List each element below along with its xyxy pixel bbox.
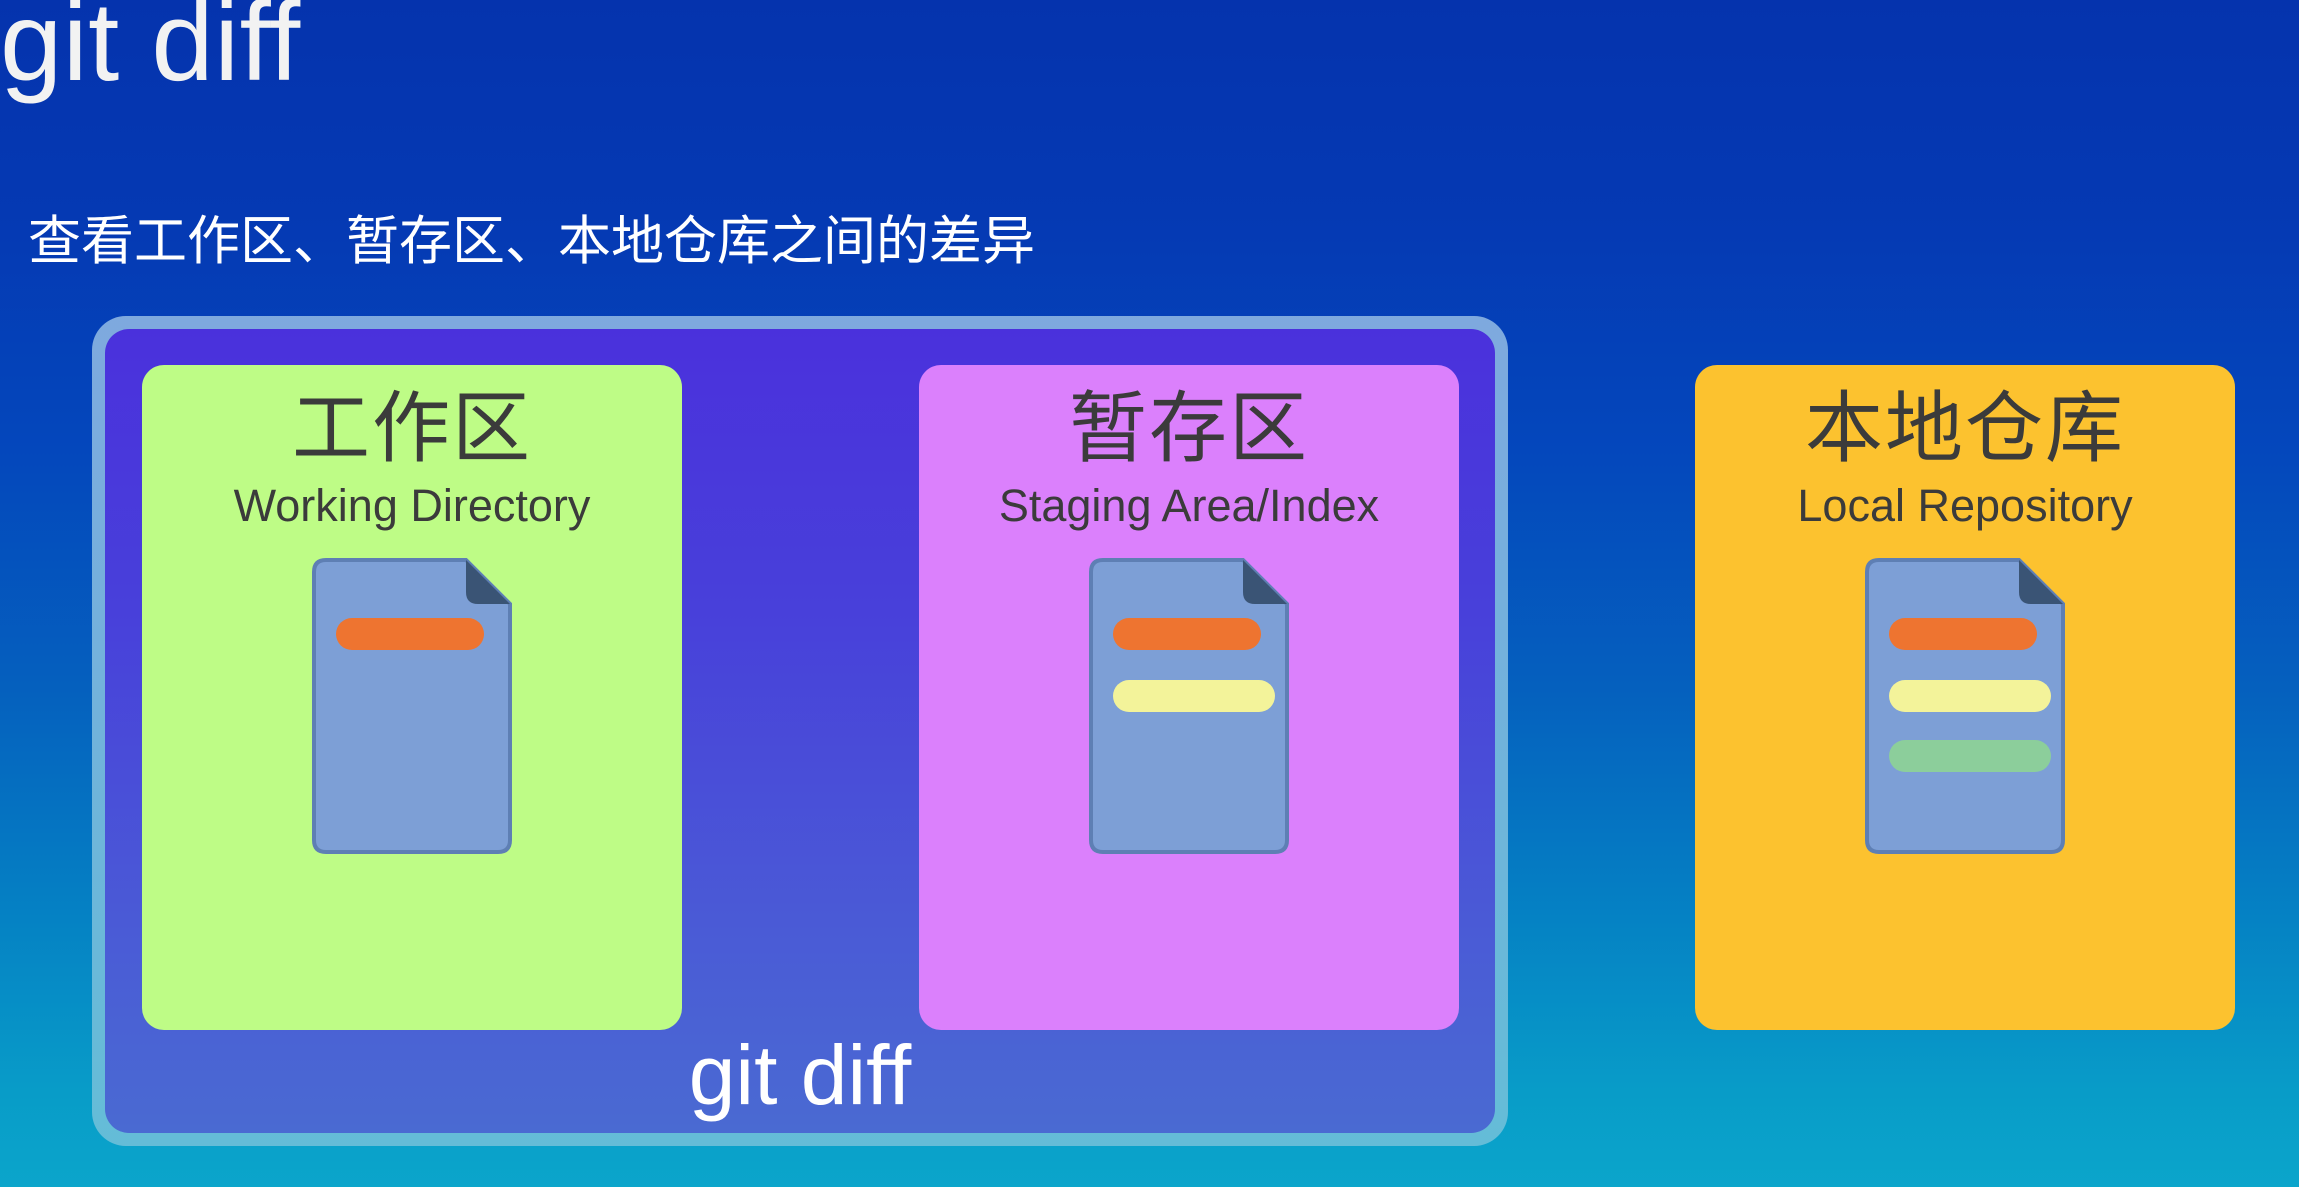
file-document-icon xyxy=(1077,556,1301,856)
page-title: git diff xyxy=(0,0,301,98)
page-subtitle: 查看工作区、暂存区、本地仓库之间的差异 xyxy=(28,215,1035,268)
card-title-cn: 本地仓库 xyxy=(1695,385,2235,472)
card-working-directory[interactable]: 工作区 Working Directory xyxy=(142,365,682,1030)
slide-canvas: git diff 查看工作区、暂存区、本地仓库之间的差异 git diff 工作… xyxy=(0,0,2299,1187)
document-icon-wrap xyxy=(142,556,682,856)
card-title-cn: 暂存区 xyxy=(919,385,1459,472)
card-title-cn: 工作区 xyxy=(142,385,682,472)
card-title-en: Local Repository xyxy=(1695,482,2235,529)
document-icon-wrap xyxy=(919,556,1459,856)
card-local-repository[interactable]: 本地仓库 Local Repository xyxy=(1695,365,2235,1030)
card-staging-area[interactable]: 暂存区 Staging Area/Index xyxy=(919,365,1459,1030)
document-icon-wrap xyxy=(1695,556,2235,856)
card-title-en: Staging Area/Index xyxy=(919,482,1459,529)
card-title-en: Working Directory xyxy=(142,482,682,529)
group-command-label: git diff xyxy=(105,1031,1495,1119)
file-document-icon xyxy=(300,556,524,856)
file-document-icon xyxy=(1853,556,2077,856)
